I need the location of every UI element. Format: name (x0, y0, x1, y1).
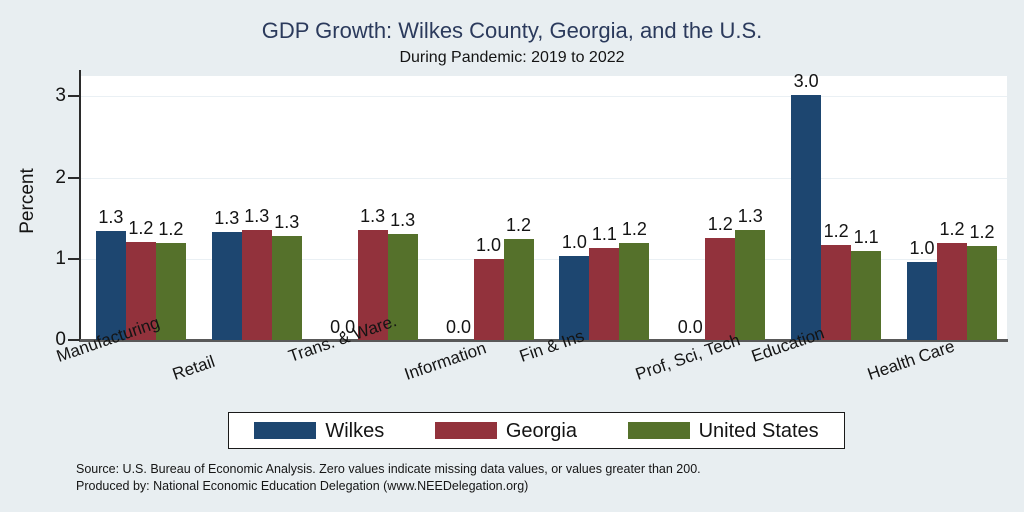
footnote-producer: Produced by: National Economic Education… (76, 478, 701, 495)
bar-value-label: 1.0 (907, 239, 937, 257)
bar-value-label: 1.3 (358, 207, 388, 225)
bar-value-label: 1.2 (504, 216, 534, 234)
bar-value-label: 0.0 (675, 318, 705, 336)
gridline (80, 96, 1007, 97)
bar-united-states (735, 230, 765, 340)
bar-united-states (619, 243, 649, 340)
chart-subtitle: During Pandemic: 2019 to 2022 (0, 48, 1024, 68)
legend-swatch-icon (254, 422, 316, 439)
bar-united-states (851, 251, 881, 340)
bar-georgia (705, 238, 735, 340)
bar-georgia (937, 243, 967, 340)
legend-item-georgia[interactable]: Georgia (435, 421, 577, 441)
gdp-growth-bar-chart: GDP Growth: Wilkes County, Georgia, and … (0, 0, 1024, 512)
bar-georgia (589, 248, 619, 340)
legend-label: Wilkes (325, 421, 384, 441)
bar-value-label: 1.3 (212, 209, 242, 227)
x-axis-label-retail: Retail (170, 352, 218, 385)
bar-wilkes (791, 95, 821, 340)
bar-united-states (504, 239, 534, 340)
bar-united-states (967, 246, 997, 340)
bar-value-label: 1.0 (559, 233, 589, 251)
bar-value-label: 1.2 (619, 220, 649, 238)
bar-value-label: 1.3 (96, 208, 126, 226)
bar-value-label: 1.1 (589, 225, 619, 243)
bar-value-label: 1.2 (821, 222, 851, 240)
legend: WilkesGeorgiaUnited States (228, 412, 845, 449)
gridline (80, 178, 1007, 179)
bar-value-label: 1.2 (937, 220, 967, 238)
legend-label: Georgia (506, 421, 577, 441)
bar-value-label: 1.3 (272, 213, 302, 231)
bar-wilkes (212, 232, 242, 340)
bar-value-label: 1.2 (156, 220, 186, 238)
bar-value-label: 0.0 (444, 318, 474, 336)
bar-united-states (272, 236, 302, 340)
bar-value-label: 1.1 (851, 228, 881, 246)
legend-swatch-icon (628, 422, 690, 439)
legend-item-wilkes[interactable]: Wilkes (254, 421, 384, 441)
footnote: Source: U.S. Bureau of Economic Analysis… (76, 461, 701, 495)
bar-georgia (821, 245, 851, 340)
y-axis-label: Percent (17, 91, 39, 311)
y-axis-tick-mark (68, 258, 80, 260)
bar-georgia (474, 259, 504, 340)
bar-value-label: 1.3 (242, 207, 272, 225)
legend-label: United States (699, 421, 819, 441)
x-axis-label-information: Information (402, 338, 489, 385)
footnote-source: Source: U.S. Bureau of Economic Analysis… (76, 461, 701, 478)
y-axis-line (79, 70, 81, 341)
bar-value-label: 1.0 (474, 236, 504, 254)
bar-wilkes (907, 262, 937, 340)
y-axis-tick-mark (68, 177, 80, 179)
bar-georgia (242, 230, 272, 340)
bar-value-label: 1.3 (735, 207, 765, 225)
bar-value-label: 1.3 (388, 211, 418, 229)
page-title: GDP Growth: Wilkes County, Georgia, and … (0, 18, 1024, 44)
bar-value-label: 3.0 (791, 72, 821, 90)
y-axis-tick-mark (68, 95, 80, 97)
x-axis-label-health-care: Health Care (865, 336, 957, 384)
bar-value-label: 1.2 (126, 219, 156, 237)
bar-value-label: 1.2 (967, 223, 997, 241)
legend-swatch-icon (435, 422, 497, 439)
legend-item-united-states[interactable]: United States (628, 421, 819, 441)
bar-value-label: 1.2 (705, 215, 735, 233)
chart-title-block: GDP Growth: Wilkes County, Georgia, and … (0, 18, 1024, 68)
